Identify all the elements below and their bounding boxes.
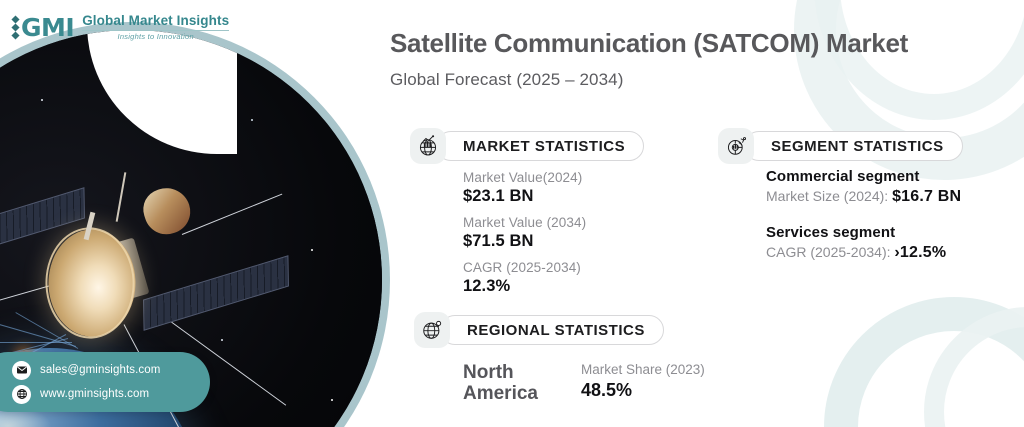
globe-pin-icon xyxy=(414,312,450,348)
segment-title: Commercial segment xyxy=(766,168,961,185)
page-subtitle: Global Forecast (2025 – 2034) xyxy=(390,70,623,90)
segment-metric-value: $16.7 BN xyxy=(892,188,961,205)
contact-website-row[interactable]: www.gminsights.com xyxy=(12,385,210,404)
envelope-icon xyxy=(12,361,31,380)
market-statistics-list: Market Value(2024) $23.1 BN Market Value… xyxy=(463,170,586,296)
segment-statistics-list: Commercial segment Market Size (2024): $… xyxy=(766,168,961,262)
region-share-block: Market Share (2023) 48.5% xyxy=(581,362,705,401)
page-title: Satellite Communication (SATCOM) Market xyxy=(390,28,908,59)
logo-company-name: Global Market Insights xyxy=(82,14,229,28)
market-stat-label: Market Value(2024) xyxy=(463,170,586,185)
region-share-label: Market Share (2023) xyxy=(581,362,705,377)
decorative-arc-top-right-inner xyxy=(814,0,1024,120)
logo-abbrev: GMI xyxy=(21,15,74,40)
segment-stat-item: Commercial segment Market Size (2024): $… xyxy=(766,168,961,206)
segment-statistics-badge: SEGMENT STATISTICS xyxy=(718,128,963,164)
contact-website-text: www.gminsights.com xyxy=(40,388,149,400)
market-stat-item: Market Value (2034) $71.5 BN xyxy=(463,215,586,251)
regional-statistics-list: North America Market Share (2023) 48.5% xyxy=(463,362,705,405)
segment-title: Services segment xyxy=(766,224,961,241)
segment-metric-label: Market Size (2024): xyxy=(766,188,888,204)
gmi-logo[interactable]: GMI Global Market Insights Insights to I… xyxy=(12,14,229,41)
regional-statistics-label: REGIONAL STATISTICS xyxy=(440,315,664,345)
satellite-mast xyxy=(116,172,127,222)
decorative-arc-bottom-right-inner xyxy=(924,307,1024,427)
segment-metric: CAGR (2025-2034): ›12.5% xyxy=(766,244,961,262)
diamond-marks-icon xyxy=(12,16,19,39)
regional-statistics-badge: REGIONAL STATISTICS xyxy=(414,312,664,348)
segment-stat-item: Services segment CAGR (2025-2034): ›12.5… xyxy=(766,224,961,262)
segment-metric: Market Size (2024): $16.7 BN xyxy=(766,188,961,206)
logo-divider xyxy=(82,30,229,31)
region-name: North America xyxy=(463,362,555,405)
market-stat-item: Market Value(2024) $23.1 BN xyxy=(463,170,586,206)
segment-metric-label: CAGR (2025-2034): xyxy=(766,244,891,260)
solar-panel-right xyxy=(143,255,289,331)
market-stat-value: $23.1 BN xyxy=(463,187,586,206)
antenna-boom xyxy=(182,194,283,235)
donut-chart-arrow-icon xyxy=(718,128,754,164)
market-statistics-badge: MARKET STATISTICS xyxy=(410,128,644,164)
contact-box: sales@gminsights.com www.gminsights.com xyxy=(0,352,210,412)
contact-email-row[interactable]: sales@gminsights.com xyxy=(12,361,210,380)
region-share-value: 48.5% xyxy=(581,380,705,401)
market-stat-label: CAGR (2025-2034) xyxy=(463,260,586,275)
market-stat-item: CAGR (2025-2034) 12.3% xyxy=(463,260,586,296)
globe-chart-icon xyxy=(410,128,446,164)
infographic-page: sales@gminsights.com www.gminsights.com … xyxy=(0,0,1024,427)
market-stat-value: $71.5 BN xyxy=(463,232,586,251)
decorative-arc-bottom-right xyxy=(824,297,1024,427)
logo-tagline: Insights to Innovation xyxy=(82,33,229,41)
segment-statistics-label: SEGMENT STATISTICS xyxy=(744,131,963,161)
contact-email-text: sales@gminsights.com xyxy=(40,364,160,376)
market-stat-value: 12.3% xyxy=(463,277,586,296)
market-statistics-label: MARKET STATISTICS xyxy=(436,131,644,161)
market-stat-label: Market Value (2034) xyxy=(463,215,586,230)
globe-icon xyxy=(12,385,31,404)
logo-wordmark: Global Market Insights Insights to Innov… xyxy=(82,14,229,41)
gmi-logo-icon: GMI xyxy=(12,15,74,40)
segment-metric-value: ›12.5% xyxy=(894,244,946,261)
